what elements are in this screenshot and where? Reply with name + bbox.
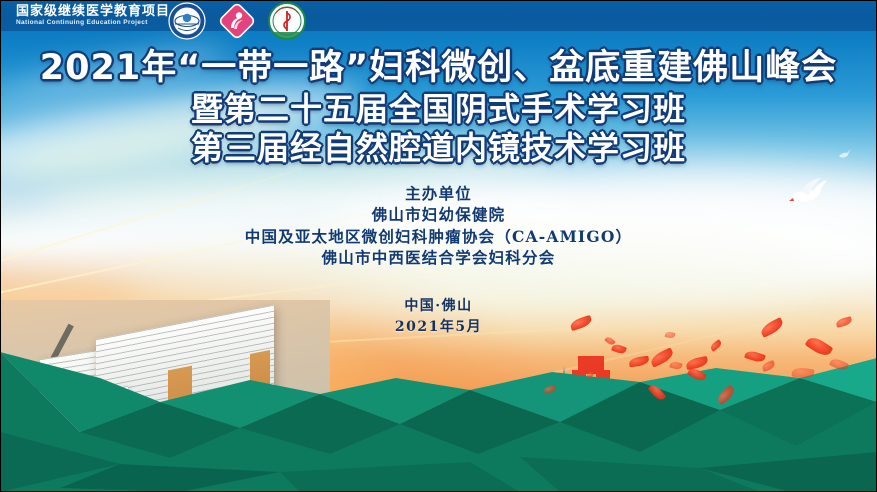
organizers-block: 主办单位 佛山市妇幼保健院 中国及亚太地区微创妇科肿瘤协会（CA-AMIGO） … [0, 183, 877, 269]
title-line-3: 第三届经自然腔道内镜技术学习班 [0, 130, 877, 167]
integrated-medicine-society-logo [268, 2, 306, 40]
event-date: 2021年5月 [0, 317, 877, 338]
event-place-date-block: 中国·佛山 2021年5月 [0, 296, 877, 338]
foshan-maternal-child-hospital-logo [218, 2, 256, 40]
poster-title-block: 2021年“一带一路”妇科微创、盆底重建佛山峰会 暨第二十五届全国阴式手术学习班… [0, 48, 877, 167]
organizers-heading: 主办单位 [0, 183, 877, 204]
organizer-item: 中国及亚太地区微创妇科肿瘤协会（CA-AMIGO） [0, 226, 877, 247]
title-line-1: 2021年“一带一路”妇科微创、盆底重建佛山峰会 [0, 48, 877, 89]
header-bar: 国家级继续医学教育项目 National Continuing Educatio… [0, 0, 877, 31]
event-location: 中国·佛山 [0, 296, 877, 317]
logo-row [168, 1, 306, 41]
conference-poster: 国家级继续医学教育项目 National Continuing Educatio… [0, 0, 877, 492]
title-line-2: 暨第二十五届全国阴式手术学习班 [0, 91, 877, 128]
organizer-item: 佛山市妇幼保健院 [0, 204, 877, 225]
organizer-item: 佛山市中西医结合学会妇科分会 [0, 247, 877, 268]
program-title-cn: 国家级继续医学教育项目 [16, 5, 170, 18]
ca-amigo-logo [168, 2, 206, 40]
program-title-en: National Continuing Education Project [16, 20, 170, 27]
national-continuing-education-block: 国家级继续医学教育项目 National Continuing Educatio… [16, 5, 170, 27]
